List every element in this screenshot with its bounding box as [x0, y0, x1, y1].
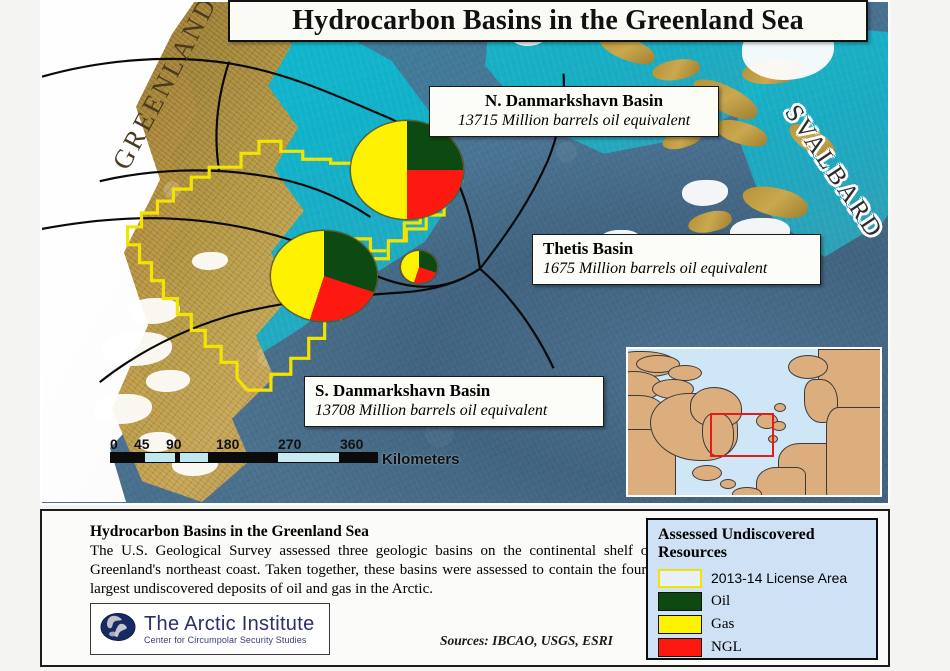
- page-title: Hydrocarbon Basins in the Greenland Sea: [292, 5, 804, 37]
- poster-root: GREENLAND SVALBARD N. Danmarkshavn Basin…: [0, 0, 950, 671]
- inset-svalbard: [772, 421, 786, 431]
- callout-n-danmarkshavn-basin[interactable]: N. Danmarkshavn Basin 13715 Million barr…: [429, 86, 719, 137]
- logo-text: The Arctic Institute Center for Circumpo…: [144, 614, 315, 645]
- legend-swatch-ngl: [658, 638, 702, 657]
- legend-swatch-gas: [658, 615, 702, 634]
- logo-subtitle: Center for Circumpolar Security Studies: [144, 636, 315, 645]
- scale-tick: 45: [134, 436, 150, 452]
- legend-label: Oil: [711, 593, 730, 610]
- callout-value: 1675 Million barrels oil equivalent: [543, 259, 810, 278]
- inset-scandinavia: [756, 467, 806, 497]
- legend-item-license-area[interactable]: 2013-14 License Area: [658, 569, 868, 588]
- description-block: Hydrocarbon Basins in the Greenland Sea …: [90, 523, 658, 600]
- scale-bar-ticks: 0 45 90 180 270 360: [110, 436, 410, 452]
- scale-tick: 180: [216, 436, 239, 452]
- pie-chart-thetis-basin[interactable]: [400, 250, 438, 284]
- sources-credit: Sources: IBCAO, USGS, ESRI: [440, 633, 613, 649]
- map-canvas: GREENLAND SVALBARD N. Danmarkshavn Basin…: [42, 2, 888, 503]
- map-legend: Assessed Undiscovered Resources 2013-14 …: [646, 518, 878, 660]
- scale-tick: 0: [110, 436, 118, 452]
- legend-label: NGL: [711, 639, 742, 656]
- legend-label: Gas: [711, 616, 734, 633]
- map-frame[interactable]: GREENLAND SVALBARD N. Danmarkshavn Basin…: [40, 0, 890, 505]
- legend-swatch-license-area: [658, 569, 702, 588]
- inset-landmass: [732, 487, 762, 497]
- pie-chart-s-danmarkshavn-basin[interactable]: [270, 230, 378, 322]
- scale-tick: 360: [340, 436, 363, 452]
- arctic-institute-logo[interactable]: The Arctic Institute Center for Circumpo…: [90, 603, 330, 655]
- callout-title: Thetis Basin: [543, 239, 810, 259]
- globe-icon: [100, 609, 136, 650]
- inset-study-area-box: [710, 413, 774, 457]
- inset-russia: [826, 407, 882, 497]
- callout-value: 13715 Million barrels oil equivalent: [440, 111, 708, 130]
- inset-svalbard: [774, 403, 786, 412]
- legend-swatch-oil: [658, 592, 702, 611]
- inset-locator-map[interactable]: [626, 347, 882, 497]
- scale-tick: 270: [278, 436, 301, 452]
- inset-landmass: [720, 479, 736, 489]
- legend-item-gas[interactable]: Gas: [658, 615, 868, 634]
- callout-s-danmarkshavn-basin[interactable]: S. Danmarkshavn Basin 13708 Million barr…: [304, 376, 604, 427]
- scale-tick: 90: [166, 436, 182, 452]
- description-heading: Hydrocarbon Basins in the Greenland Sea: [90, 523, 658, 541]
- legend-item-oil[interactable]: Oil: [658, 592, 868, 611]
- callout-title: S. Danmarkshavn Basin: [315, 381, 593, 401]
- scale-bar-unit: Kilometers: [382, 451, 460, 468]
- legend-item-ngl[interactable]: NGL: [658, 638, 868, 657]
- callout-thetis-basin[interactable]: Thetis Basin 1675 Million barrels oil eq…: [532, 234, 821, 285]
- scale-bar: 0 45 90 180 270 360 Kilometers: [110, 436, 410, 463]
- description-body: The U.S. Geological Survey assessed thre…: [90, 542, 658, 600]
- inset-russia: [788, 355, 828, 379]
- bottom-info-panel: Hydrocarbon Basins in the Greenland Sea …: [40, 509, 890, 667]
- logo-title: The Arctic Institute: [144, 614, 315, 634]
- inset-iceland: [692, 465, 722, 481]
- scale-bar-track: [110, 452, 378, 463]
- callout-title: N. Danmarkshavn Basin: [440, 91, 708, 111]
- callout-value: 13708 Million barrels oil equivalent: [315, 401, 593, 420]
- poster-title-banner: Hydrocarbon Basins in the Greenland Sea: [228, 0, 868, 42]
- legend-title: Assessed Undiscovered Resources: [658, 526, 868, 562]
- legend-label: 2013-14 License Area: [711, 570, 847, 586]
